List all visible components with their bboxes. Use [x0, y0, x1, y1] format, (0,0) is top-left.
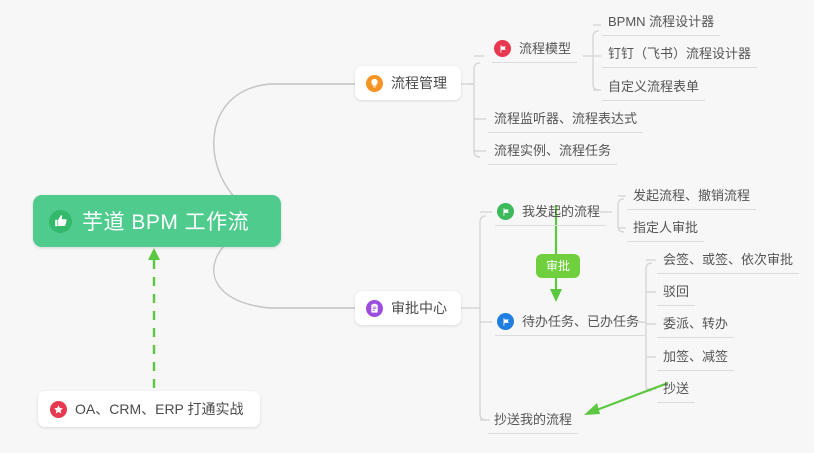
node-label: 待办任务、已办任务	[522, 313, 639, 330]
node-label: 指定人审批	[633, 220, 698, 235]
node-add-remove-sign[interactable]: 加签、减签	[657, 348, 734, 371]
mindmap-canvas: 芋道 BPM 工作流 流程管理 审批中心	[0, 0, 814, 453]
node-start-cancel[interactable]: 发起流程、撤销流程	[627, 187, 756, 210]
star-icon	[50, 401, 67, 418]
node-label: 抄送	[663, 381, 689, 396]
node-label: 钉钉（飞书）流程设计器	[608, 46, 751, 61]
badge-label: 审批	[546, 259, 570, 273]
node-bpmn-designer[interactable]: BPMN 流程设计器	[602, 13, 720, 36]
thumbs-up-icon	[49, 210, 72, 233]
node-listener-expression[interactable]: 流程监听器、流程表达式	[488, 110, 643, 133]
branch-label: 审批中心	[391, 298, 447, 318]
clipboard-icon	[366, 300, 383, 317]
node-label: 抄送我的流程	[494, 412, 572, 427]
node-label: 加签、减签	[663, 349, 728, 364]
root-node[interactable]: 芋道 BPM 工作流	[33, 195, 281, 247]
dashed-arrow-to-root	[148, 248, 160, 388]
node-delegate-transfer[interactable]: 委派、转办	[657, 315, 734, 338]
node-dingding-designer[interactable]: 钉钉（飞书）流程设计器	[602, 45, 757, 68]
flag-icon	[497, 203, 514, 220]
node-label: 会签、或签、依次审批	[663, 252, 793, 267]
flag-icon	[494, 40, 511, 57]
node-reject[interactable]: 驳回	[657, 283, 695, 306]
node-label: BPMN 流程设计器	[608, 14, 714, 29]
node-oa-crm-erp[interactable]: OA、CRM、ERP 打通实战	[38, 391, 260, 427]
branch-label: 流程管理	[391, 73, 447, 93]
node-label: 流程监听器、流程表达式	[494, 111, 637, 126]
branch-node-shenpi-zhongxin[interactable]: 审批中心	[355, 291, 461, 325]
node-label: 自定义流程表单	[608, 79, 699, 94]
node-cc[interactable]: 抄送	[657, 380, 695, 403]
node-instance-task[interactable]: 流程实例、流程任务	[488, 142, 617, 165]
node-assignee-approve[interactable]: 指定人审批	[627, 219, 704, 242]
node-my-started[interactable]: 我发起的流程	[495, 203, 606, 226]
node-countersign[interactable]: 会签、或签、依次审批	[657, 251, 799, 274]
node-liucheng-moxing[interactable]: 流程模型	[492, 40, 577, 63]
root-label: 芋道 BPM 工作流	[82, 206, 249, 236]
node-cc-to-me[interactable]: 抄送我的流程	[488, 411, 578, 434]
node-label: 我发起的流程	[522, 203, 600, 220]
branch-node-liucheng-guanli[interactable]: 流程管理	[355, 66, 461, 100]
node-label: 发起流程、撤销流程	[633, 188, 750, 203]
flag-icon	[497, 313, 514, 330]
node-label: OA、CRM、ERP 打通实战	[75, 399, 244, 419]
approve-annotation-badge[interactable]: 审批	[536, 254, 580, 278]
node-todo-done[interactable]: 待办任务、已办任务	[495, 313, 645, 336]
node-label: 流程实例、流程任务	[494, 143, 611, 158]
node-custom-form[interactable]: 自定义流程表单	[602, 78, 705, 101]
cc-flow-arrow	[584, 383, 668, 415]
node-label: 流程模型	[519, 40, 571, 57]
lightbulb-icon	[366, 75, 383, 92]
node-label: 驳回	[663, 284, 689, 299]
node-label: 委派、转办	[663, 316, 728, 331]
